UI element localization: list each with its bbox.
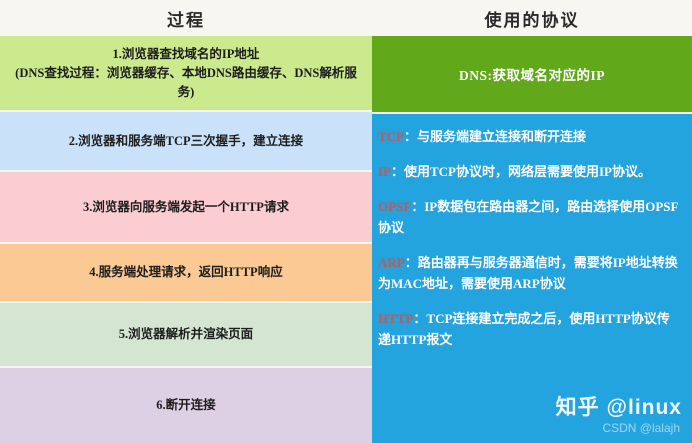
protocol-desc-tcp: ：与服务端建立连接和断开连接 bbox=[404, 129, 586, 144]
protocol-name-http: HTTP bbox=[378, 311, 413, 326]
process-row-2: 2.浏览器和服务端TCP三次握手，建立连接 bbox=[0, 112, 372, 172]
protocol-desc-opsf: ：IP数据包在路由器之间，路由选择使用OPSF协议 bbox=[378, 199, 678, 235]
csdn-watermark: CSDN @lalajh bbox=[602, 421, 680, 435]
process-protocol-table: 过程 使用的协议 1.浏览器查找域名的IP地址 (DNS查找过程：浏览器缓存、本… bbox=[0, 0, 692, 443]
protocol-desc-ip: ：使用TCP协议时，网络层需要使用IP协议。 bbox=[391, 164, 651, 179]
protocol-item-ip: IP：使用TCP协议时，网络层需要使用IP协议。 bbox=[378, 161, 682, 182]
process-column: 1.浏览器查找域名的IP地址 (DNS查找过程：浏览器缓存、本地DNS路由缓存、… bbox=[0, 36, 372, 443]
process-row-3: 3.浏览器向服务端发起一个HTTP请求 bbox=[0, 172, 372, 244]
process-row-6-text: 6.断开连接 bbox=[156, 396, 215, 415]
protocol-name-opsf: OPSF bbox=[378, 199, 411, 214]
protocol-item-http: HTTP：TCP连接建立完成之后，使用HTTP协议传递HTTP报文 bbox=[378, 308, 682, 350]
protocol-dns-text: DNS:获取域名对应的IP bbox=[459, 64, 605, 84]
process-row-2-text: 2.浏览器和服务端TCP三次握手，建立连接 bbox=[69, 132, 303, 151]
process-row-5-text: 5.浏览器解析并渲染页面 bbox=[119, 325, 253, 344]
zhihu-watermark: 知乎 @linux bbox=[556, 391, 682, 421]
protocol-item-arp: ARP：路由器再与服务器通信时，需要将IP地址转换为MAC地址，需要使用ARP协… bbox=[378, 252, 682, 294]
protocol-column: DNS:获取域名对应的IP TCP：与服务端建立连接和断开连接 IP：使用TCP… bbox=[372, 36, 692, 443]
protocol-desc-arp: ：路由器再与服务器通信时，需要将IP地址转换为MAC地址，需要使用ARP协议 bbox=[378, 255, 678, 291]
protocol-name-tcp: TCP bbox=[378, 129, 404, 144]
header-protocol-title: 使用的协议 bbox=[372, 0, 692, 36]
protocol-name-ip: IP bbox=[378, 164, 391, 179]
protocol-item-tcp: TCP：与服务端建立连接和断开连接 bbox=[378, 126, 682, 147]
protocol-name-arp: ARP bbox=[378, 255, 405, 270]
protocol-item-opsf: OPSF：IP数据包在路由器之间，路由选择使用OPSF协议 bbox=[378, 196, 682, 238]
process-row-5: 5.浏览器解析并渲染页面 bbox=[0, 303, 372, 368]
process-row-1: 1.浏览器查找域名的IP地址 (DNS查找过程：浏览器缓存、本地DNS路由缓存、… bbox=[0, 36, 372, 112]
process-row-1-text: 1.浏览器查找域名的IP地址 (DNS查找过程：浏览器缓存、本地DNS路由缓存、… bbox=[15, 45, 357, 102]
protocol-panel: TCP：与服务端建立连接和断开连接 IP：使用TCP协议时，网络层需要使用IP协… bbox=[372, 114, 692, 443]
header-process-title: 过程 bbox=[0, 0, 372, 36]
process-row-3-text: 3.浏览器向服务端发起一个HTTP请求 bbox=[83, 198, 289, 217]
protocol-desc-http: ：TCP连接建立完成之后，使用HTTP协议传递HTTP报文 bbox=[378, 311, 670, 347]
protocol-dns-cell: DNS:获取域名对应的IP bbox=[372, 36, 692, 114]
table-header: 过程 使用的协议 bbox=[0, 0, 692, 36]
process-row-6: 6.断开连接 bbox=[0, 368, 372, 443]
process-row-4-text: 4.服务端处理请求，返回HTTP响应 bbox=[89, 263, 282, 282]
process-row-4: 4.服务端处理请求，返回HTTP响应 bbox=[0, 244, 372, 303]
